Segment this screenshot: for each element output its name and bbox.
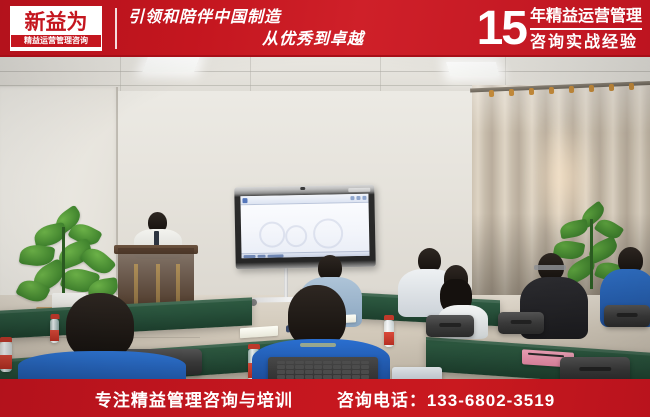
slogan-line-1: 引领和陪伴中国制造	[128, 6, 378, 28]
chair	[498, 312, 544, 334]
minimize-icon[interactable]	[350, 196, 354, 200]
logo-main-text: 新益为	[25, 12, 88, 33]
footer-phone: 咨询电话：133-6802-3519	[337, 386, 555, 411]
whiteboard-statusbar[interactable]	[241, 251, 369, 258]
experience-years-block: 15 年精益运营管理 咨询实战经验	[477, 3, 642, 55]
whiteboard-toolbar-right[interactable]	[350, 196, 366, 200]
watermark-gear-icon	[259, 221, 285, 247]
training-photo	[0, 57, 650, 379]
water-bottle	[0, 342, 12, 372]
status-chip	[268, 254, 284, 257]
watermark-gear-icon	[313, 218, 344, 249]
collar-trim	[300, 343, 336, 347]
header-banner: 新益为 精益运营管理咨询 引领和陪伴中国制造 从优秀到卓越 15 年精益运营管理…	[0, 0, 650, 57]
glasses-icon	[534, 265, 566, 270]
ceiling-light	[142, 57, 199, 72]
whiteboard-brand-plate	[348, 188, 370, 192]
interactive-whiteboard[interactable]	[234, 185, 376, 270]
footer-tagline: 专注精益管理咨询与培训	[95, 386, 293, 411]
watermark-gear-icon	[285, 225, 307, 247]
years-number: 15	[477, 5, 530, 53]
water-bottle	[384, 320, 394, 347]
slogan-line-2: 从优秀到卓越	[128, 28, 378, 50]
logo-sub-text: 精益运营管理咨询	[11, 36, 101, 45]
laptop-keyboard[interactable]	[268, 357, 378, 379]
laptop-open[interactable]	[392, 367, 442, 379]
water-bottle	[50, 319, 59, 343]
whiteboard-doc-title	[249, 198, 250, 202]
chair	[604, 305, 650, 327]
company-logo[interactable]: 新益为 精益运营管理咨询	[10, 6, 102, 51]
logo-sub-wrap: 精益运营管理咨询	[11, 35, 101, 47]
ceiling-light	[446, 62, 500, 76]
status-chip	[244, 254, 256, 257]
document-icon[interactable]	[242, 198, 247, 203]
years-line-2: 咨询实战经验	[530, 30, 642, 53]
chair	[426, 315, 474, 337]
header-slogan: 引领和陪伴中国制造 从优秀到卓越	[128, 6, 378, 52]
close-icon[interactable]	[362, 196, 366, 200]
status-chip	[258, 254, 266, 257]
years-line-1: 年精益运营管理	[530, 5, 642, 30]
footer-banner: 专注精益管理咨询与培训 咨询电话：133-6802-3519	[0, 379, 650, 417]
whiteboard-screen[interactable]	[240, 194, 369, 258]
attendee-body	[18, 351, 186, 379]
whiteboard-camera-icon	[300, 187, 305, 190]
header-divider	[115, 8, 117, 49]
maximize-icon[interactable]	[356, 196, 360, 200]
years-text-block: 年精益运营管理 咨询实战经验	[530, 5, 642, 53]
whiteboard-toolbar[interactable]	[240, 194, 368, 205]
chair	[560, 357, 630, 379]
banner-page: 新益为 精益运营管理咨询 引领和陪伴中国制造 从优秀到卓越 15 年精益运营管理…	[0, 0, 650, 417]
